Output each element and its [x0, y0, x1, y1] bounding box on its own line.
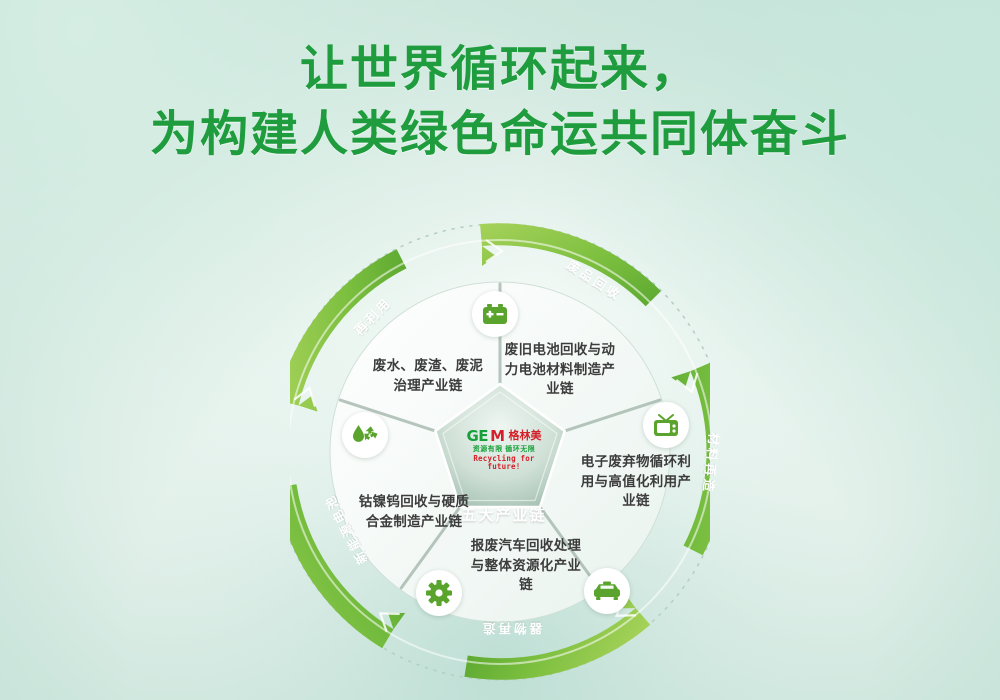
- gem-logo-slogan-en: Recycling for future!: [456, 455, 552, 470]
- water-recycle-icon-bubble[interactable]: [342, 412, 388, 458]
- gear-icon-bubble[interactable]: [416, 570, 462, 616]
- segment-label-water: 废水、废渣、废泥治理产业链: [368, 356, 488, 395]
- segment-label-ewaste: 电子废弃物循环利用与高值化利用产业链: [576, 452, 696, 511]
- car-icon-bubble[interactable]: [584, 568, 630, 614]
- tv-icon: [653, 413, 679, 437]
- battery-icon: [482, 303, 508, 325]
- gem-logo: GEM 格林美 资源有限 循环无限 Recycling for future!: [456, 429, 552, 495]
- title-line-1: 让世界循环起来，: [0, 38, 1000, 103]
- center-caption: 五大产业链: [448, 504, 560, 525]
- segment-label-car: 报废汽车回收处理与整体资源化产业链: [466, 536, 586, 595]
- industry-chain-diagram: 废旧电池回收与动力电池材料制造产业链 电子废弃物循环利用与高值化利用产业链 报废…: [300, 222, 700, 682]
- title-line-2: 为构建人类绿色命运共同体奋斗: [0, 103, 1000, 168]
- gem-logo-slogan-cn: 资源有限 循环无限: [456, 446, 552, 453]
- battery-icon-bubble[interactable]: [472, 291, 518, 337]
- gear-icon: [426, 580, 452, 606]
- page-title: 让世界循环起来， 为构建人类绿色命运共同体奋斗: [0, 38, 1000, 168]
- water-recycle-icon: [351, 422, 379, 448]
- gem-logo-gem-text: GE: [467, 429, 489, 444]
- segment-label-battery: 废旧电池回收与动力电池材料制造产业链: [500, 340, 620, 399]
- tv-icon-bubble[interactable]: [643, 402, 689, 448]
- gem-logo-m-mark: M: [490, 429, 504, 444]
- car-icon: [593, 581, 621, 601]
- gem-logo-brand-cn: 格林美: [509, 431, 542, 442]
- ring-word-remake: 器物再造: [480, 620, 542, 639]
- gem-logo-wordmark: GEM 格林美: [456, 429, 552, 444]
